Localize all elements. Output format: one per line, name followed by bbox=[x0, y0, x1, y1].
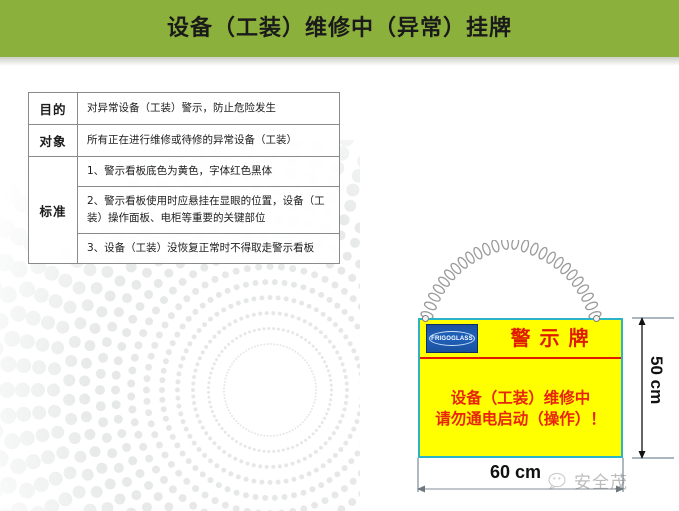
wechat-icon bbox=[548, 472, 570, 490]
sign-title: 警示牌 bbox=[482, 320, 617, 357]
row-label-purpose: 目的 bbox=[29, 93, 78, 125]
warning-sign-illustration: FRIGOGLASS 警示牌 设备（工装）维修中 请勿通电启动（操作）！ 50 … bbox=[400, 240, 679, 511]
table-row: 对象 所有正在进行维修或待修的异常设备（工装） bbox=[29, 125, 340, 157]
sign-board: FRIGOGLASS 警示牌 设备（工装）维修中 请勿通电启动（操作）！ bbox=[418, 318, 623, 458]
eyelet-left-icon bbox=[422, 315, 429, 322]
title-banner-shadow bbox=[0, 57, 679, 66]
page-title: 设备（工装）维修中（异常）挂牌 bbox=[0, 0, 679, 57]
sign-message-line-2: 请勿通电启动（操作）！ bbox=[435, 410, 606, 428]
height-dimension-label: 50 cm bbox=[646, 356, 666, 404]
table-row: 标准 1、警示看板底色为黄色，字体红色黑体 bbox=[29, 157, 340, 187]
sign-message-body: 设备（工装）维修中 请勿通电启动（操作）！ bbox=[420, 361, 621, 456]
slide-page: 设备（工装）维修中（异常）挂牌 目的 对异常设备（工装）警示，防止危险发生 对象… bbox=[0, 0, 679, 511]
sign-header-strip: FRIGOGLASS 警示牌 bbox=[420, 320, 621, 359]
eyelet-right-icon bbox=[593, 315, 600, 322]
frigoglass-logo-text: FRIGOGLASS bbox=[429, 331, 475, 346]
row-label-object: 对象 bbox=[29, 125, 78, 157]
row-label-standard: 标准 bbox=[29, 157, 78, 264]
row-value-standard-3: 3、设备（工装）没恢复正常时不得取走警示看板 bbox=[78, 233, 340, 263]
height-dimension: 50 cm bbox=[632, 316, 676, 460]
row-value-object: 所有正在进行维修或待修的异常设备（工装） bbox=[78, 125, 340, 157]
table-row: 目的 对异常设备（工装）警示，防止危险发生 bbox=[29, 93, 340, 125]
watermark: 安全茂 bbox=[548, 468, 628, 493]
row-value-standard-2: 2、警示看板使用时应悬挂在显眼的位置，设备（工装）操作面板、电柜等重要的关键部位 bbox=[78, 187, 340, 234]
row-value-purpose: 对异常设备（工装）警示，防止危险发生 bbox=[78, 93, 340, 125]
frigoglass-logo: FRIGOGLASS bbox=[426, 324, 478, 353]
row-value-standard-1: 1、警示看板底色为黄色，字体红色黑体 bbox=[78, 157, 340, 187]
standards-table: 目的 对异常设备（工装）警示，防止危险发生 对象 所有正在进行维修或待修的异常设… bbox=[28, 92, 340, 264]
sign-message-line-1: 设备（工装）维修中 bbox=[451, 389, 591, 407]
watermark-text: 安全茂 bbox=[574, 468, 628, 493]
